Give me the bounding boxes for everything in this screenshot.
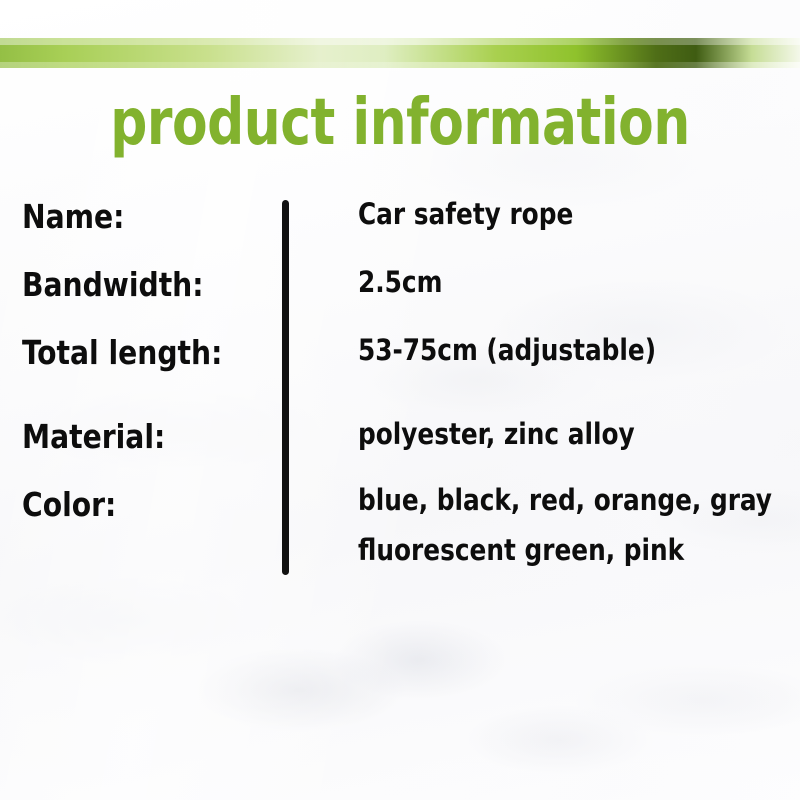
spec-label-total-length: Total length: [22, 336, 222, 369]
banner-bottom-shadow [0, 62, 800, 68]
spec-label-name: Name: [22, 200, 124, 233]
spec-label-material: Material: [22, 420, 165, 453]
page-title: product information [40, 88, 760, 158]
vertical-divider-bar [282, 200, 289, 575]
spec-value-material: polyester, zinc alloy [358, 418, 635, 451]
spec-value-total-length: 53-75cm (adjustable) [358, 334, 656, 367]
spec-value-color-line-2: fluorescent green, pink [358, 534, 772, 567]
spec-value-color: blue, black, red, orange, gray fluoresce… [358, 484, 772, 567]
spec-label-bandwidth: Bandwidth: [22, 268, 204, 301]
spec-value-name: Car safety rope [358, 198, 573, 231]
spec-label-color: Color: [22, 488, 116, 521]
spec-value-color-line-1: blue, black, red, orange, gray [358, 484, 772, 517]
spec-value-bandwidth: 2.5cm [358, 266, 442, 299]
green-gradient-banner [0, 38, 800, 68]
specification-table: Name: Bandwidth: Total length: Material:… [0, 180, 800, 600]
product-information-graphic: product information Name: Bandwidth: Tot… [0, 0, 800, 800]
banner-top-highlight [0, 38, 800, 45]
